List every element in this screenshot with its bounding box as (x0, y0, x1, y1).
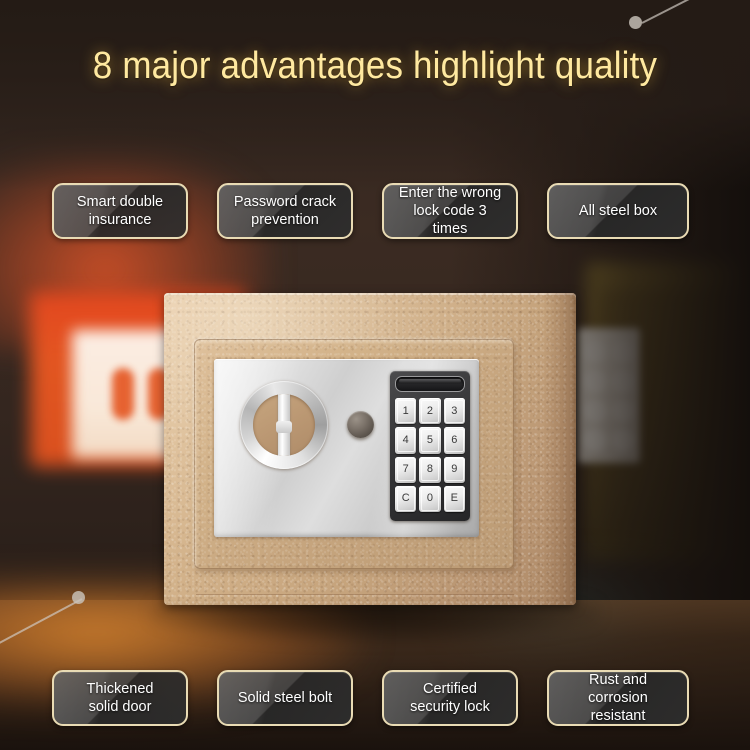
feature-chip-enter-wrong-lock-code[interactable]: Enter the wrong lock code 3 times (382, 183, 518, 239)
feature-chip-line1: Certified (410, 680, 490, 698)
digital-safe-box[interactable]: 1 2 3 4 5 6 7 8 9 C 0 E (164, 293, 576, 605)
keypad-key-5[interactable]: 5 (419, 427, 440, 453)
keypad-key-enter[interactable]: E (444, 486, 465, 512)
keypad-key-clear[interactable]: C (395, 486, 416, 512)
feature-chip-line1: All steel box (579, 202, 657, 220)
keypad-key-8[interactable]: 8 (419, 457, 440, 483)
feature-chip-solid-steel-bolt[interactable]: Solid steel bolt (217, 670, 353, 726)
key-label: 2 (427, 406, 433, 417)
keypad-key-2[interactable]: 2 (419, 398, 440, 424)
keypad-key-3[interactable]: 3 (444, 398, 465, 424)
feature-chip-line2: lock code 3 times (394, 202, 506, 238)
safe-door-panel: 1 2 3 4 5 6 7 8 9 C 0 E (194, 339, 514, 569)
feature-chip-line1: Rust and (559, 671, 677, 689)
key-label: E (451, 493, 458, 504)
feature-chip-smart-double-insurance[interactable]: Smart double insurance (52, 183, 188, 239)
feature-chip-line2: corrosion resistant (559, 689, 677, 725)
feature-chip-thickened-solid-door[interactable]: Thickened solid door (52, 670, 188, 726)
keypad-key-7[interactable]: 7 (395, 457, 416, 483)
feature-chip-line1: Smart double (77, 193, 163, 211)
safe-bottom-crease (196, 594, 514, 595)
background-top-vignette (0, 0, 750, 190)
feature-chip-all-steel-box[interactable]: All steel box (547, 183, 689, 239)
safe-face-plate: 1 2 3 4 5 6 7 8 9 C 0 E (214, 359, 479, 537)
feature-chip-line1: Thickened (87, 680, 154, 698)
keypad-key-1[interactable]: 1 (395, 398, 416, 424)
feature-chip-certified-security-lock[interactable]: Certified security lock (382, 670, 518, 726)
key-label: 8 (427, 464, 433, 475)
page-title: 8 major advantages highlight quality (30, 44, 720, 88)
feature-chip-password-crack-prevention[interactable]: Password crack prevention (217, 183, 353, 239)
handle-knob[interactable] (347, 411, 374, 438)
keypad-display (395, 376, 465, 392)
key-label: 3 (451, 406, 457, 417)
keypad-key-4[interactable]: 4 (395, 427, 416, 453)
feature-chip-line2: insurance (77, 211, 163, 229)
key-label: C (402, 493, 410, 504)
key-label: 1 (403, 406, 409, 417)
key-label: 4 (403, 435, 409, 446)
feature-chip-line2: security lock (410, 698, 490, 716)
key-label: 0 (427, 493, 433, 504)
key-label: 5 (427, 435, 433, 446)
keypad[interactable]: 1 2 3 4 5 6 7 8 9 C 0 E (390, 371, 470, 521)
feature-chip-line2: solid door (87, 698, 154, 716)
key-label: 6 (451, 435, 457, 446)
safe-side-shading (542, 293, 576, 605)
keypad-key-0[interactable]: 0 (419, 486, 440, 512)
keypad-key-6[interactable]: 6 (444, 427, 465, 453)
safe-body: 1 2 3 4 5 6 7 8 9 C 0 E (164, 293, 576, 605)
keypad-keys[interactable]: 1 2 3 4 5 6 7 8 9 C 0 E (395, 398, 465, 512)
feature-chip-line1: Solid steel bolt (238, 689, 332, 707)
keypad-key-9[interactable]: 9 (444, 457, 465, 483)
feature-chip-line2: prevention (234, 211, 336, 229)
key-lock-icon[interactable] (240, 381, 328, 469)
feature-chip-line1: Password crack (234, 193, 336, 211)
key-label: 7 (403, 464, 409, 475)
feature-chip-rust-corrosion-resistant[interactable]: Rust and corrosion resistant (547, 670, 689, 726)
product-feature-poster: 8 major advantages highlight quality Sma… (0, 0, 750, 750)
feature-chip-line1: Enter the wrong (394, 184, 506, 202)
key-label: 9 (451, 464, 457, 475)
keyway-nub (276, 421, 292, 433)
